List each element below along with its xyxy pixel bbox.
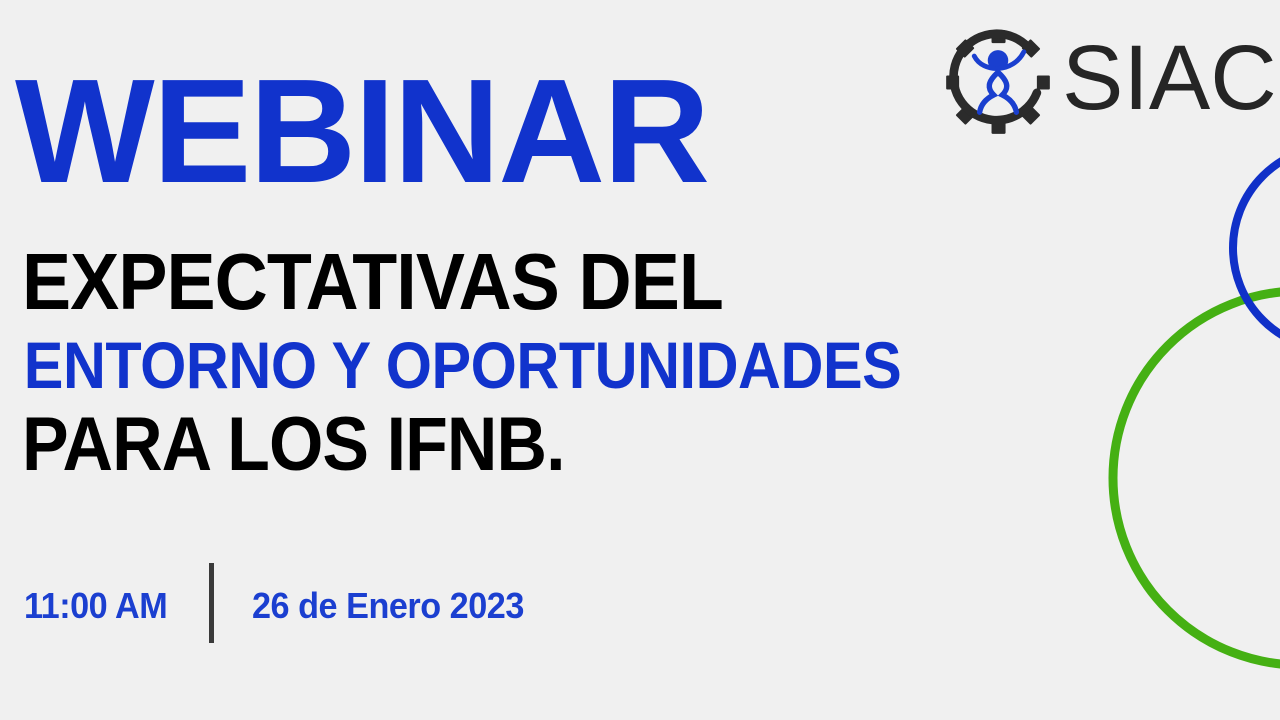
blue-outline-circle bbox=[1233, 146, 1280, 350]
green-outline-circle bbox=[1113, 291, 1280, 665]
event-date: 26 de Enero 2023 bbox=[252, 588, 524, 624]
meta-divider bbox=[209, 563, 214, 643]
page-title: WEBINAR bbox=[15, 58, 708, 206]
subtitle-line-3: PARA LOS IFNB. bbox=[22, 408, 921, 482]
subtitle-line-2: ENTORNO Y OPORTUNIDADES bbox=[22, 333, 901, 398]
siac-logo: SIAC bbox=[944, 28, 1277, 136]
siac-wordmark: SIAC bbox=[1062, 32, 1277, 124]
event-meta: 11:00 AM 26 de Enero 2023 bbox=[24, 566, 538, 646]
poster-canvas: SIAC WEBINAR EXPECTATIVAS DEL ENTORNO Y … bbox=[0, 0, 1280, 720]
subtitle-block: EXPECTATIVAS DEL ENTORNO Y OPORTUNIDADES… bbox=[22, 243, 999, 483]
subtitle-line-1: EXPECTATIVAS DEL bbox=[22, 243, 921, 321]
event-time: 11:00 AM bbox=[24, 588, 167, 624]
gear-human-figure-icon bbox=[944, 28, 1052, 136]
